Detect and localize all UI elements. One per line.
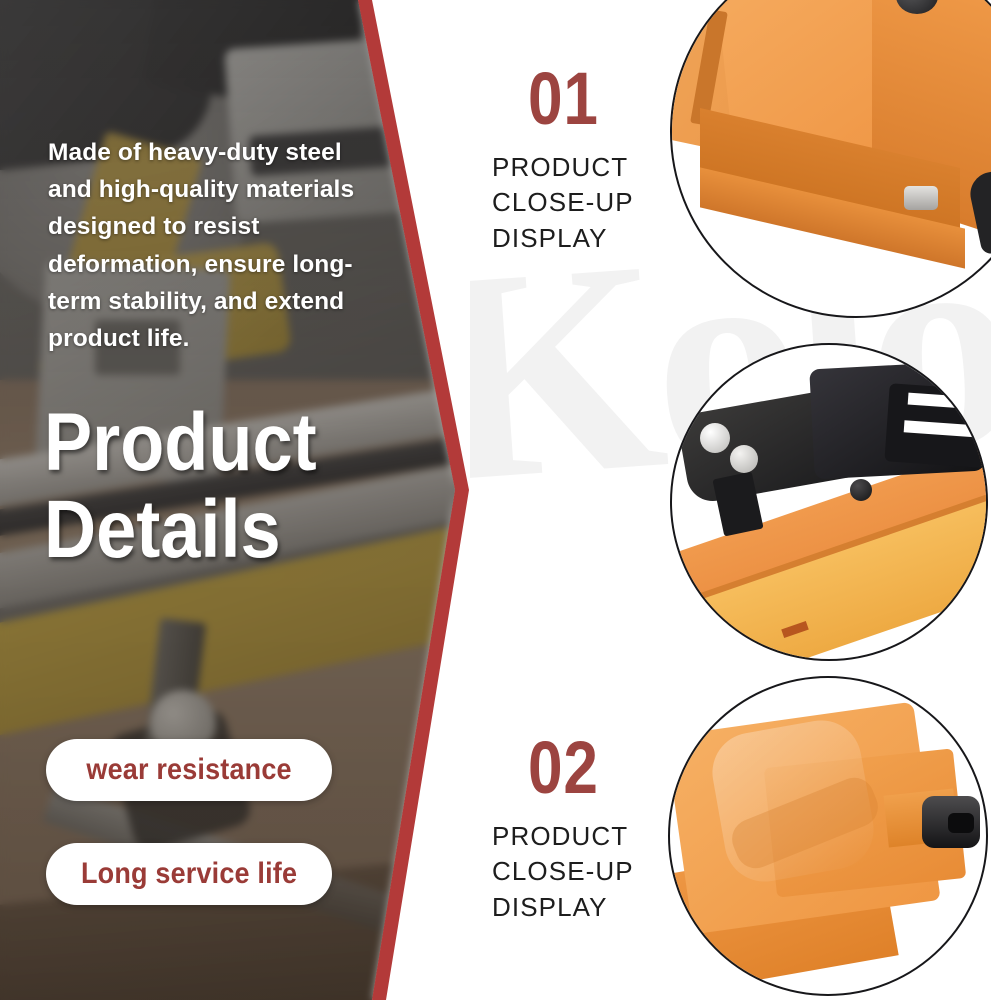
silver-rivet-2: [730, 445, 758, 473]
feature-badge-wear-resistance: wear resistance: [46, 739, 332, 801]
page-title-line-2: Details: [44, 491, 370, 570]
silver-bolt: [904, 186, 938, 210]
right-content-panel: Kolo 01 PRODUCT CLOSE-UP DISPLAY 02 PROD…: [470, 0, 991, 1000]
page-title: Product Details: [44, 404, 370, 569]
feature-badge-label: wear resistance: [86, 753, 291, 787]
silver-rivet-1: [700, 423, 730, 453]
close-up-photo-03: [668, 676, 988, 996]
feature-badge-label: Long service life: [81, 857, 297, 891]
feature-badge-long-service-life: Long service life: [46, 843, 332, 905]
item-number-01: 01: [528, 62, 599, 136]
lead-paragraph: Made of heavy-duty steel and high-qualit…: [48, 134, 378, 357]
product-details-banner: Made of heavy-duty steel and high-qualit…: [0, 0, 991, 1000]
page-title-line-1: Product: [44, 397, 317, 488]
black-pin: [850, 479, 872, 501]
item-caption-01: PRODUCT CLOSE-UP DISPLAY: [492, 150, 634, 256]
cap-inner-hole: [948, 813, 974, 833]
close-up-photo-02: [670, 343, 988, 661]
